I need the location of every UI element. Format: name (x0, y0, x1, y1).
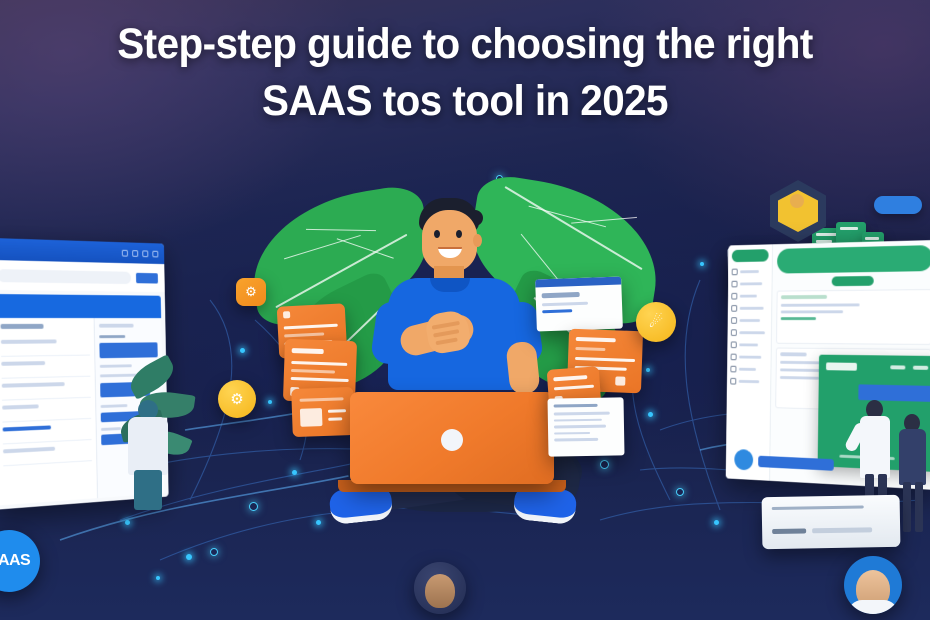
chart-icon (731, 317, 737, 324)
dashboard-icon (732, 269, 738, 276)
floating-chat-button[interactable] (734, 449, 753, 471)
search-icon[interactable] (122, 249, 128, 256)
search-input[interactable] (0, 269, 131, 284)
help-icon (730, 378, 736, 385)
floating-window-top[interactable] (535, 277, 623, 332)
avatar-shoulders (848, 600, 898, 614)
sidebar-item[interactable] (730, 366, 767, 373)
left-standing-person (118, 400, 182, 510)
calendar-icon (731, 305, 737, 312)
left-dash-search-row (0, 260, 165, 292)
right-dash-sidebar (726, 244, 773, 481)
avatar-head (790, 194, 804, 208)
table-row[interactable] (1, 334, 90, 356)
title-line-2: SAAS tos tool in 2025 (28, 73, 902, 130)
mail-icon (731, 354, 737, 361)
hero-graphic: Step-step guide to choosing the right SA… (0, 0, 930, 620)
bottom-right-device[interactable] (762, 495, 901, 549)
table-row[interactable] (3, 440, 92, 466)
cta-button[interactable] (832, 276, 874, 286)
sidebar-item[interactable] (731, 293, 768, 300)
reports-icon (731, 293, 737, 300)
page-title: Step-step guide to choosing the right SA… (0, 16, 930, 130)
ear (473, 234, 482, 247)
left-dash-section-header (0, 294, 161, 318)
users-icon (732, 281, 738, 288)
message-bubble[interactable] (99, 342, 157, 358)
top-right-pill-button[interactable] (874, 196, 922, 214)
coin-badge-right[interactable]: ☄ (636, 302, 676, 342)
eye-right (456, 230, 462, 238)
sidebar-logo[interactable] (732, 249, 769, 262)
laptop-logo (441, 429, 463, 451)
saas-logo-label: SAAS (0, 552, 30, 570)
eye-left (434, 230, 440, 238)
sidebar-item[interactable] (731, 317, 768, 324)
stats-grid (776, 289, 930, 345)
gear-icon (730, 366, 736, 373)
left-dash-table (0, 318, 98, 505)
person-body (128, 417, 168, 475)
settings-icon[interactable] (142, 250, 148, 257)
floating-window-list[interactable] (547, 397, 624, 456)
document-icon (731, 342, 737, 349)
table-row[interactable] (2, 377, 91, 401)
sidebar-item[interactable] (732, 268, 769, 275)
title-line-1: Step-step guide to choosing the right (28, 16, 902, 73)
person-shirt (899, 429, 926, 485)
folder-icon (731, 329, 737, 336)
sidebar-item[interactable] (731, 354, 768, 361)
coin-badge-network[interactable]: ⚙ (218, 380, 256, 418)
avatar-bottom-right[interactable] (844, 556, 902, 614)
cart-icon[interactable] (132, 250, 138, 257)
sidebar-item[interactable] (730, 378, 767, 385)
menu-icon[interactable] (152, 250, 158, 257)
person-legs (134, 470, 162, 510)
avatar-face (425, 574, 455, 608)
right-person-man (896, 414, 930, 532)
table-row[interactable] (1, 356, 90, 379)
sidebar-item[interactable] (732, 280, 769, 287)
promo-banner[interactable] (777, 245, 930, 274)
face (422, 210, 477, 272)
sidebar-item[interactable] (731, 305, 768, 312)
sidebar-item[interactable] (731, 342, 768, 349)
sidebar-item[interactable] (731, 329, 768, 336)
share-icon-badge[interactable]: ⚙ (236, 278, 266, 306)
primary-action-button[interactable] (136, 272, 158, 283)
right-forearm (505, 341, 540, 396)
orange-laptop[interactable] (350, 392, 554, 484)
avatar-bottom-center[interactable] (414, 562, 466, 614)
